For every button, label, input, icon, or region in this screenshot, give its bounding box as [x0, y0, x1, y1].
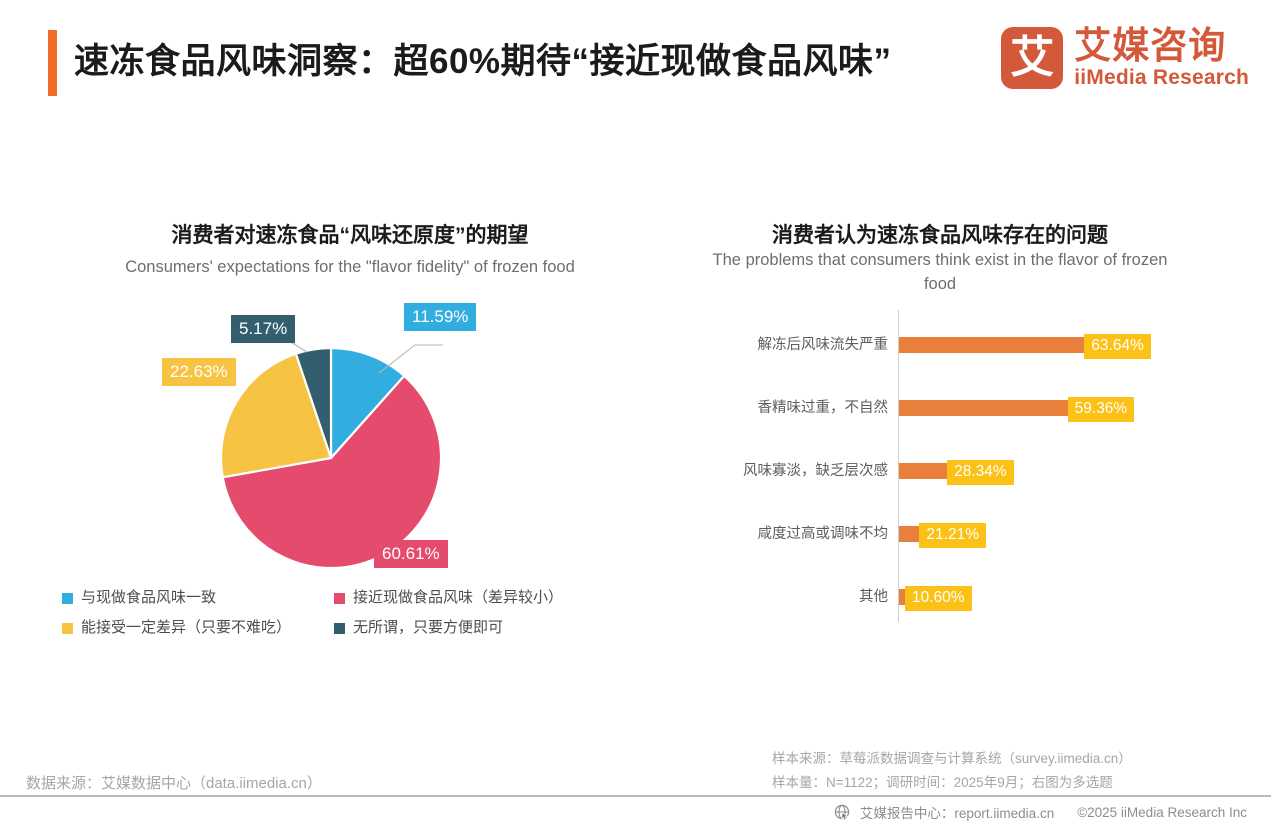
pie-legend: 与现做食品风味一致 接近现做食品风味（差异较小） 能接受一定差异（只要不难吃） …	[62, 588, 662, 638]
pie-label-slice-0: 11.59%	[404, 303, 476, 331]
bar-row-3: 咸度过高或调味不均21.21%	[700, 523, 1200, 545]
pie-label-slice-2: 22.63%	[162, 358, 236, 386]
right-chart-title-cn: 消费者认为速冻食品风味存在的问题	[690, 219, 1190, 249]
legend-swatch-icon	[334, 593, 345, 604]
bar-value-label-1: 59.36%	[1068, 397, 1135, 422]
brand-name-en: iiMedia Research	[1074, 66, 1249, 90]
legend-item-0[interactable]: 与现做食品风味一致	[62, 588, 334, 608]
brand-mark-icon: 艾	[1001, 27, 1063, 89]
legend-label-0: 与现做食品风味一致	[81, 588, 216, 608]
page-title: 速冻食品风味洞察：超60%期待“接近现做食品风味”	[74, 33, 1014, 91]
legend-item-2[interactable]: 能接受一定差异（只要不难吃）	[62, 618, 334, 638]
bar-row-0: 解冻后风味流失严重63.64%	[700, 334, 1200, 356]
page-header: 速冻食品风味洞察：超60%期待“接近现做食品风味” 艾 艾媒咨询 iiMedia…	[0, 0, 1271, 118]
pie-chart-svg	[219, 318, 443, 570]
bar-row-4: 其他10.60%	[700, 586, 1200, 608]
footer-sample-source: 样本来源：草莓派数据调查与计算系统（survey.iimedia.cn）	[772, 747, 1132, 771]
globe-cursor-icon	[834, 804, 851, 821]
legend-label-1: 接近现做食品风味（差异较小）	[353, 588, 563, 608]
bar-category-label-2: 风味寡淡，缺乏层次感	[700, 460, 888, 482]
legend-swatch-icon	[334, 623, 345, 634]
pie-label-slice-3: 5.17%	[231, 315, 295, 343]
right-chart-title-en: The problems that consumers think exist …	[700, 248, 1180, 296]
pie-label-slice-1: 60.61%	[374, 540, 448, 568]
bar-row-1: 香精味过重，不自然59.36%	[700, 397, 1200, 419]
footer-report-center[interactable]: 艾媒报告中心：report.iimedia.cn	[860, 802, 1054, 822]
bar-category-label-4: 其他	[700, 586, 888, 608]
legend-swatch-icon	[62, 623, 73, 634]
legend-label-3: 无所谓，只要方便即可	[353, 618, 503, 638]
footer-sample-notes: 样本来源：草莓派数据调查与计算系统（survey.iimedia.cn） 样本量…	[772, 747, 1132, 795]
pie-slices	[221, 348, 441, 568]
legend-swatch-icon	[62, 593, 73, 604]
bar-value-label-0: 63.64%	[1084, 334, 1151, 359]
left-chart-title-en: Consumers' expectations for the "flavor …	[55, 255, 645, 279]
bar-value-label-4: 10.60%	[905, 586, 972, 611]
bar-category-label-1: 香精味过重，不自然	[700, 397, 888, 419]
footer-bar: 艾媒报告中心：report.iimedia.cn ©2025 iiMedia R…	[0, 797, 1271, 827]
brand-text: 艾媒咨询 iiMedia Research	[1074, 26, 1249, 90]
bar-value-label-2: 28.34%	[947, 460, 1014, 485]
bar-category-label-0: 解冻后风味流失严重	[700, 334, 888, 356]
brand-name-cn: 艾媒咨询	[1074, 26, 1249, 66]
title-accent-bar	[48, 30, 57, 96]
bar-value-label-3: 21.21%	[919, 523, 986, 548]
pie-chart	[219, 318, 443, 570]
bar-row-2: 风味寡淡，缺乏层次感28.34%	[700, 460, 1200, 482]
legend-label-2: 能接受一定差异（只要不难吃）	[81, 618, 291, 638]
footer-copyright: ©2025 iiMedia Research Inc	[1077, 805, 1247, 820]
legend-item-1[interactable]: 接近现做食品风味（差异较小）	[334, 588, 624, 608]
bar-chart: 解冻后风味流失严重63.64%香精味过重，不自然59.36%风味寡淡，缺乏层次感…	[700, 310, 1200, 630]
left-chart-title-cn: 消费者对速冻食品“风味还原度”的期望	[55, 219, 645, 249]
legend-item-3[interactable]: 无所谓，只要方便即可	[334, 618, 624, 638]
footer-sample-size: 样本量：N=1122；调研时间：2025年9月；右图为多选题	[772, 771, 1132, 795]
brand-logo: 艾 艾媒咨询 iiMedia Research	[1001, 26, 1249, 90]
bar-category-label-3: 咸度过高或调味不均	[700, 523, 888, 545]
footer-data-source: 数据来源：艾媒数据中心（data.iimedia.cn）	[26, 772, 322, 793]
